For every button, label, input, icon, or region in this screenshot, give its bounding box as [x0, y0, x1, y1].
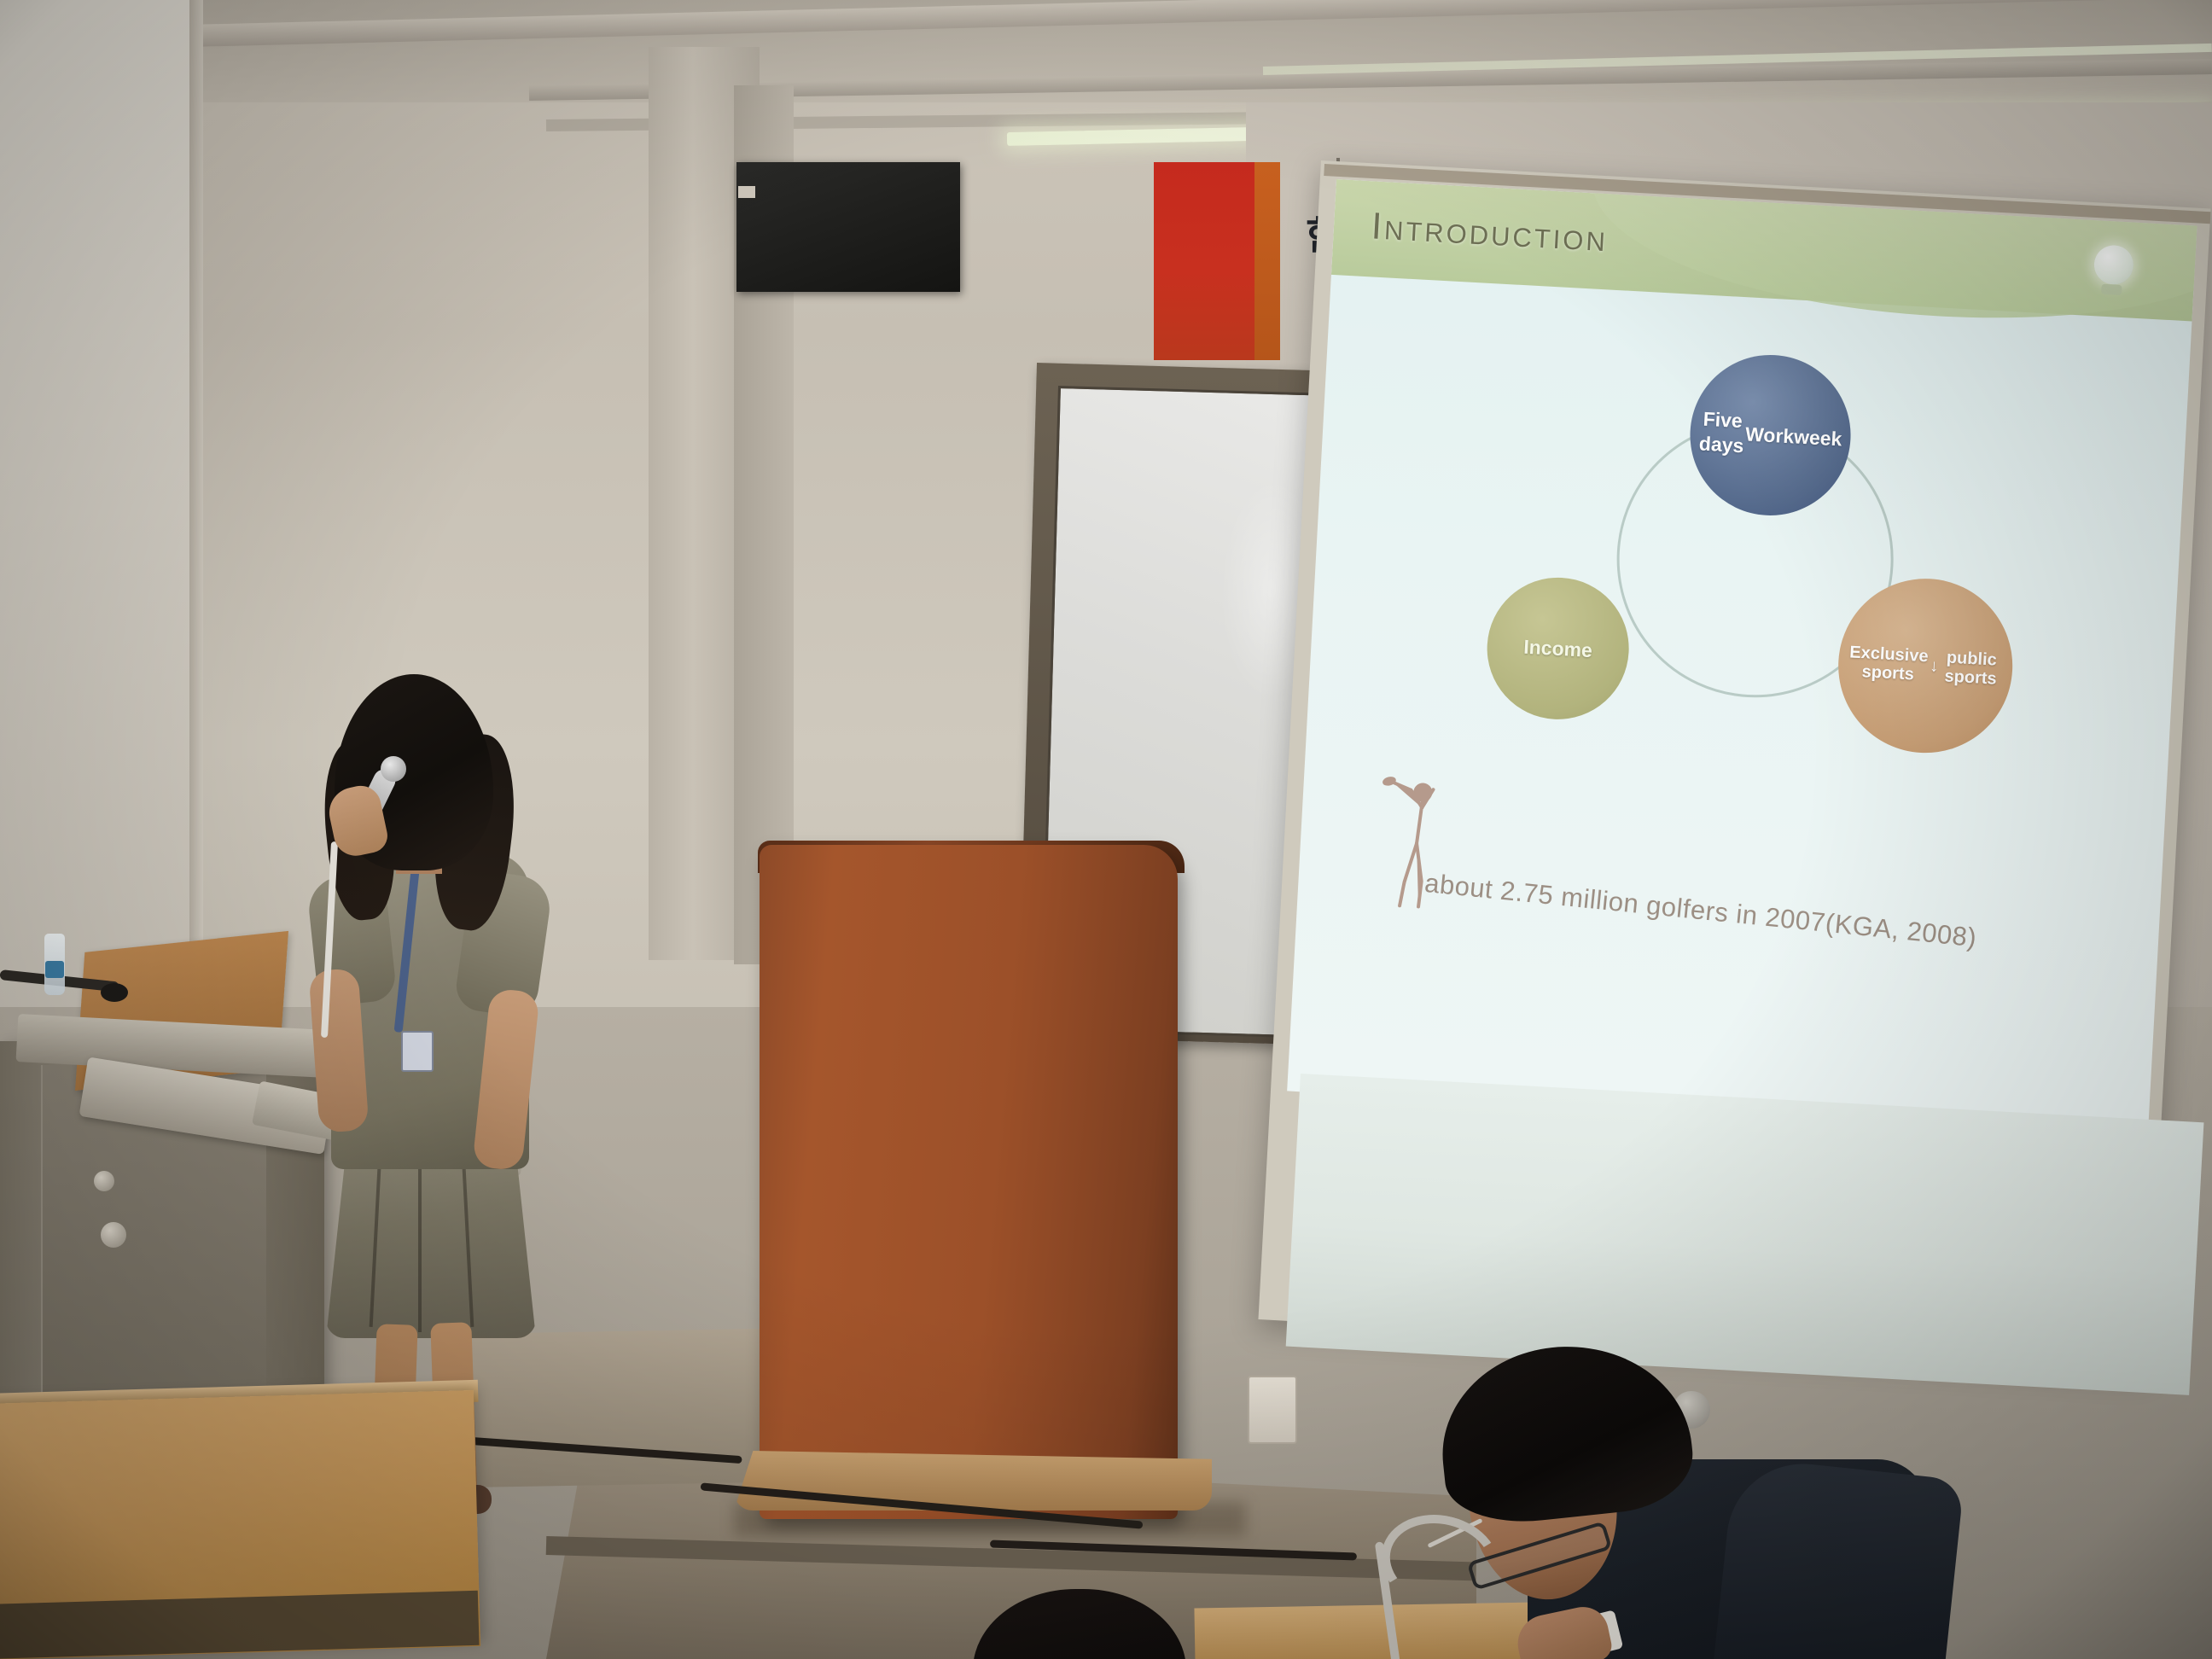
left-wall-edge — [189, 0, 203, 1007]
wood-podium — [760, 845, 1178, 1519]
projected-slide: Introduction Five daysWorkweek Income Ex… — [1287, 179, 2197, 1138]
lanyard-badge — [401, 1031, 434, 1072]
red-banner — [1154, 162, 1263, 360]
seated-attendee-figure — [1417, 1340, 1946, 1659]
presenter-skirt — [326, 1142, 536, 1338]
attendee-shoulder — [1714, 1457, 1965, 1659]
attendee-hair — [1432, 1334, 1697, 1529]
lectern-knob — [94, 1171, 114, 1191]
red-banner-edge — [1254, 162, 1280, 360]
slide-caption: about 2.75 million golfers in 2007(KGA, … — [1423, 868, 2139, 969]
skirt-fold — [418, 1149, 422, 1332]
wall-speaker-box — [736, 162, 960, 292]
presentation-room-photo: 한 Introduction Five daysWorkweek Income … — [0, 0, 2212, 1659]
lectern-knob — [101, 1222, 126, 1248]
microphone-head — [381, 756, 406, 782]
lectern-microphone-head — [101, 983, 128, 1002]
golf-tee-icon — [2101, 284, 2122, 295]
wall-power-outlet — [1248, 1376, 1297, 1444]
water-bottle-cap — [45, 961, 64, 978]
diagram-bubble-left: Income — [1483, 573, 1633, 723]
speaker-notch — [738, 186, 755, 198]
left-wall-panel — [0, 0, 196, 1007]
podium-base-trim — [734, 1451, 1212, 1511]
